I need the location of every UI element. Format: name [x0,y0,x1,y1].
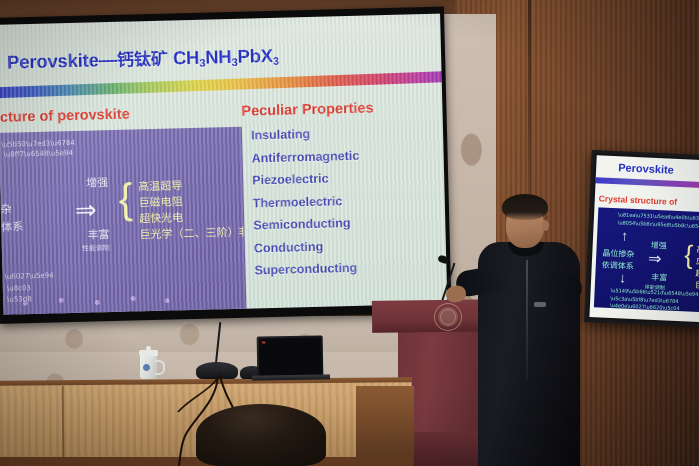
diagram-below-arrow: 丰富 [87,226,109,243]
monitor-above-arrow: 增强 [650,240,666,252]
property-item: Piezoelectric [252,169,442,188]
slide-title-dash: — [98,49,117,70]
diagram-list-item-2: 巨磁电阻 [139,194,183,211]
speaker-ear [542,220,549,231]
speaker-presenter [470,190,610,466]
slide-heading-right: Peculiar Properties [241,100,374,119]
lecture-photo-scene: Perovskite—钙钛矿 CH3NH3PbX3 al structure o… [0,0,699,466]
crystal-structure-diagram-panel: \u5b50\u7ed3\u6784 \u8ff7\u6548\u5e94 杂 … [0,127,246,315]
diagram-brace-icon: { [118,178,133,220]
monitor-brace-icon: { [684,241,694,267]
property-item: Superconducting [254,259,444,278]
property-item: Conducting [254,236,444,255]
slide-title-prefix: Perovskite [7,49,99,72]
monitor-top-note: \u81ea\u7531\u5ea6\u4e0b\u63a7\u6784\u80… [618,212,699,232]
speaker-jacket-zipper [526,260,528,380]
laptop-bezel [259,337,322,376]
monitor-below-arrow: 丰富 [651,272,667,284]
podium-emblem-icon [434,303,462,331]
monitor-up-arrow-icon: ↑ [621,228,629,242]
diagram-list-item-3: 超快光电 [139,210,183,227]
monitor-arrow-icon: ⇒ [648,252,662,269]
speaker-hair [502,194,548,220]
diagram-above-arrow: 增强 [86,174,108,191]
slide-title: Perovskite—钙钛矿 CH3NH3PbX3 [7,38,427,74]
diagram-top-note-2: \u8ff7\u6548\u5e94 [3,149,73,160]
monitor-bottom-note: \u5149\u5b66\u521d\u6548\u5e94\u5c3a\u5b… [610,288,699,312]
desk-right-section [356,386,414,466]
speaker-jacket-logo [534,302,546,307]
diagram-list-item-1: 高温超导 [138,178,182,195]
diagram-left-label-1: 杂 [1,201,12,217]
diagram-arrow-icon: ⇒ [75,196,97,223]
tea-cup-lid-knob [146,346,151,351]
peculiar-properties-list: Insulating Antiferromagnetic Piezoelectr… [251,124,445,286]
audience-member-head [196,404,326,466]
property-item: Semiconducting [253,214,443,233]
diagram-atom-dots [15,291,215,310]
monitor-rainbow-bar [595,177,699,189]
slide-title-formula: CH3NH3PbX3 [173,45,279,69]
tea-cup-logo-icon [143,364,150,371]
monitor-list-item: 巨 [695,280,699,291]
rainbow-divider-bar [0,71,447,99]
diagram-bottom-note-1: \u6027\u5e94 [4,272,53,283]
diagram-below-arrow-small: 性能调制 [82,244,110,254]
property-item: Antiferromagnetic [251,146,441,165]
wall-seam-line [528,0,531,200]
diagram-list-item-4: 巨光学（二、三阶）非线性 [139,224,246,243]
monitor-down-arrow-icon: ↓ [619,270,627,284]
projection-screen: Perovskite—钙钛矿 CH3NH3PbX3 al structure o… [0,7,452,324]
slide-title-chinese: 钙钛矿 [117,50,168,70]
property-item: Insulating [251,124,441,143]
monitor-slide-heading: Crystal structure of [599,193,678,207]
slide-heading-left: al structure of perovskite [0,107,130,127]
monitor-slide-title: Perovskite [618,162,674,177]
diagram-left-label-2: 体系 [1,218,23,235]
monitor-list-item: 超 [695,268,699,279]
diagram-bottom-note-2: \u8c03 [7,284,31,294]
laptop-logo-icon [262,341,266,343]
presentation-slide: Perovskite—钙钛矿 CH3NH3PbX3 al structure o… [0,14,447,315]
property-item: Thermoelectric [253,191,443,210]
